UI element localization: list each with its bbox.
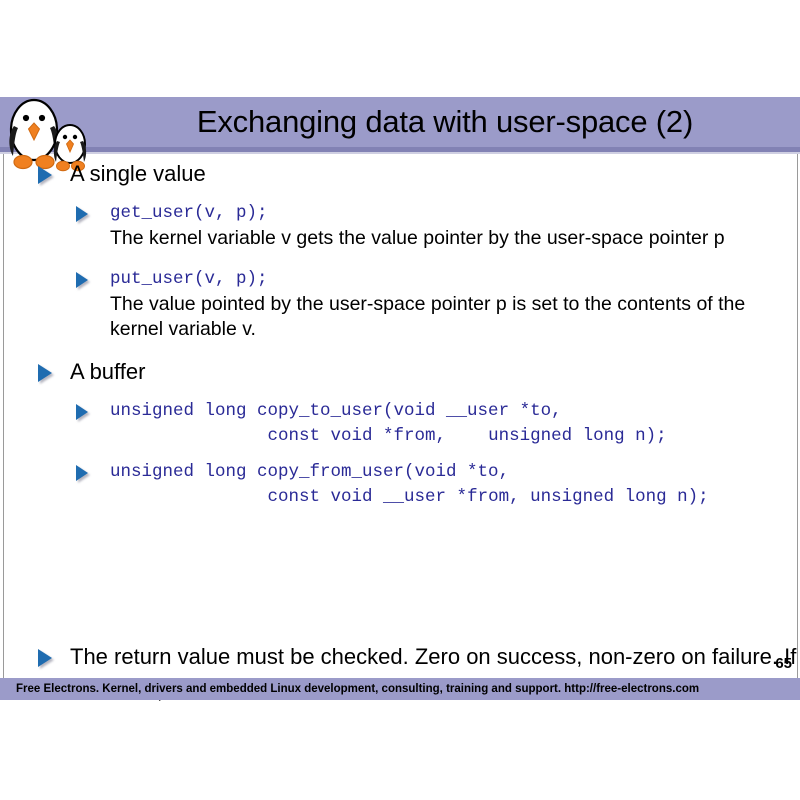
bullet-return-value-note: The return value must be checked. Zero o…: [0, 640, 800, 711]
page-title: Exchanging data with user-space (2): [100, 97, 790, 147]
footer-text: Free Electrons. Kernel, drivers and embe…: [16, 678, 800, 700]
code-get-user: get_user(v, p);: [110, 201, 800, 226]
code-copy-from-user: unsigned long copy_from_user(void *to, c…: [110, 460, 800, 510]
bullet-a-single-value: A single value: [0, 160, 800, 188]
spacer: [0, 253, 800, 267]
spacer: [0, 192, 800, 201]
bullet-copy-to-user: unsigned long copy_to_user(void __user *…: [0, 399, 800, 449]
code-put-user: put_user(v, p);: [110, 267, 800, 292]
spacer: [0, 451, 800, 460]
bullet-label: A single value: [70, 161, 206, 186]
title-bar-hairline: [0, 152, 800, 154]
bullet-get-user: get_user(v, p); The kernel variable v ge…: [0, 201, 800, 251]
triangle-bullet-icon: [76, 465, 88, 481]
bullet-copy-from-user: unsigned long copy_from_user(void *to, c…: [0, 460, 800, 510]
spacer: [0, 390, 800, 399]
spacer: [0, 344, 800, 358]
triangle-bullet-icon: [76, 272, 88, 288]
slide-content: A single value get_user(v, p); The kerne…: [0, 160, 800, 512]
triangle-bullet-icon: [38, 166, 52, 184]
page-number: 65: [775, 655, 792, 672]
code-copy-to-user: unsigned long copy_to_user(void __user *…: [110, 399, 800, 449]
triangle-bullet-icon: [38, 364, 52, 382]
triangle-bullet-icon: [76, 404, 88, 420]
triangle-bullet-icon: [38, 649, 52, 667]
bullet-label: A buffer: [70, 359, 145, 384]
prose-put-user: The value pointed by the user-space poin…: [110, 292, 800, 342]
bullet-a-buffer: A buffer: [0, 358, 800, 386]
triangle-bullet-icon: [76, 206, 88, 222]
prose-get-user: The kernel variable v gets the value poi…: [110, 226, 800, 251]
bullet-put-user: put_user(v, p); The value pointed by the…: [0, 267, 800, 342]
slide-canvas: Exchanging data with user-space (2) A si…: [0, 0, 800, 800]
